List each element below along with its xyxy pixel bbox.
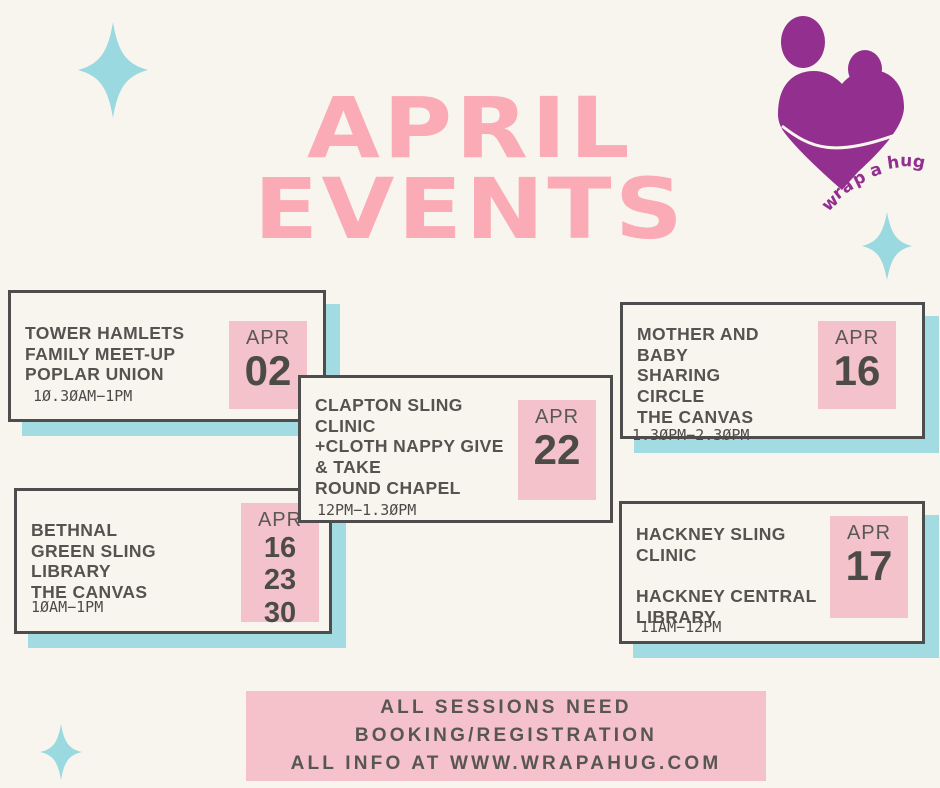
event-card-clapton-sling-clinic[interactable]: APR 22 CLAPTON SLING CLINIC +CLOTH NAPPY… <box>298 375 613 523</box>
event-card-bethnal-green-sling-library[interactable]: APR 16 23 30 BETHNAL GREEN SLING LIBRARY… <box>14 488 332 634</box>
event-description: CLAPTON SLING CLINIC +CLOTH NAPPY GIVE &… <box>315 395 504 498</box>
date-day: 02 <box>229 350 307 393</box>
card-body: APR 22 CLAPTON SLING CLINIC +CLOTH NAPPY… <box>298 375 613 523</box>
date-box: APR 02 <box>229 321 307 409</box>
event-description: HACKNEY SLING CLINIC HACKNEY CENTRAL LIB… <box>636 524 817 627</box>
footer-banner: ALL SESSIONS NEED BOOKING/REGISTRATION A… <box>246 691 766 781</box>
event-description: TOWER HAMLETS FAMILY MEET-UP POPLAR UNIO… <box>25 323 184 385</box>
event-time: 12PM−1.3ØPM <box>317 501 416 519</box>
page-title: APRIL EVENTS <box>0 88 940 249</box>
event-card-hackney-sling-clinic[interactable]: APR 17 HACKNEY SLING CLINIC HACKNEY CENT… <box>619 501 925 644</box>
event-card-tower-hamlets[interactable]: APR 02 TOWER HAMLETS FAMILY MEET-UP POPL… <box>8 290 326 422</box>
logo-parent-head <box>781 16 825 68</box>
date-day-2: 23 <box>241 564 319 596</box>
title-line-2: EVENTS <box>0 169 940 250</box>
event-time: 11AM−12PM <box>640 618 721 636</box>
footer-line-1: ALL SESSIONS NEED <box>380 694 631 722</box>
event-description: MOTHER AND BABY SHARING CIRCLE THE CANVA… <box>637 324 759 427</box>
card-body: APR 17 HACKNEY SLING CLINIC HACKNEY CENT… <box>619 501 925 644</box>
event-time: 1.3ØPM−2.3ØPM <box>632 426 749 444</box>
event-time: 1ØAM−1PM <box>31 598 103 616</box>
card-body: APR 16 23 30 BETHNAL GREEN SLING LIBRARY… <box>14 488 332 634</box>
event-description: BETHNAL GREEN SLING LIBRARY THE CANVAS <box>31 520 156 603</box>
date-box: APR 17 <box>830 516 908 618</box>
footer-line-2: BOOKING/REGISTRATION <box>355 722 657 750</box>
date-day: 22 <box>518 429 596 472</box>
footer-line-3: ALL INFO AT WWW.WRAPAHUG.COM <box>291 750 722 778</box>
date-day-1: 16 <box>241 532 319 564</box>
event-time: 1Ø.3ØAM−1PM <box>33 387 132 405</box>
card-body: APR 16 MOTHER AND BABY SHARING CIRCLE TH… <box>620 302 925 439</box>
sparkle-bottom-left-icon <box>40 724 82 780</box>
date-day-3: 30 <box>241 597 319 629</box>
title-line-1: APRIL <box>0 88 940 169</box>
date-day: 17 <box>830 545 908 588</box>
date-day: 16 <box>818 350 896 393</box>
poster-canvas: w r a p a h u g APRIL EVENTS APR 02 TOWE… <box>0 0 940 788</box>
date-box: APR 16 <box>818 321 896 409</box>
event-card-mother-and-baby[interactable]: APR 16 MOTHER AND BABY SHARING CIRCLE TH… <box>620 302 925 439</box>
card-body: APR 02 TOWER HAMLETS FAMILY MEET-UP POPL… <box>8 290 326 422</box>
date-box: APR 22 <box>518 400 596 500</box>
